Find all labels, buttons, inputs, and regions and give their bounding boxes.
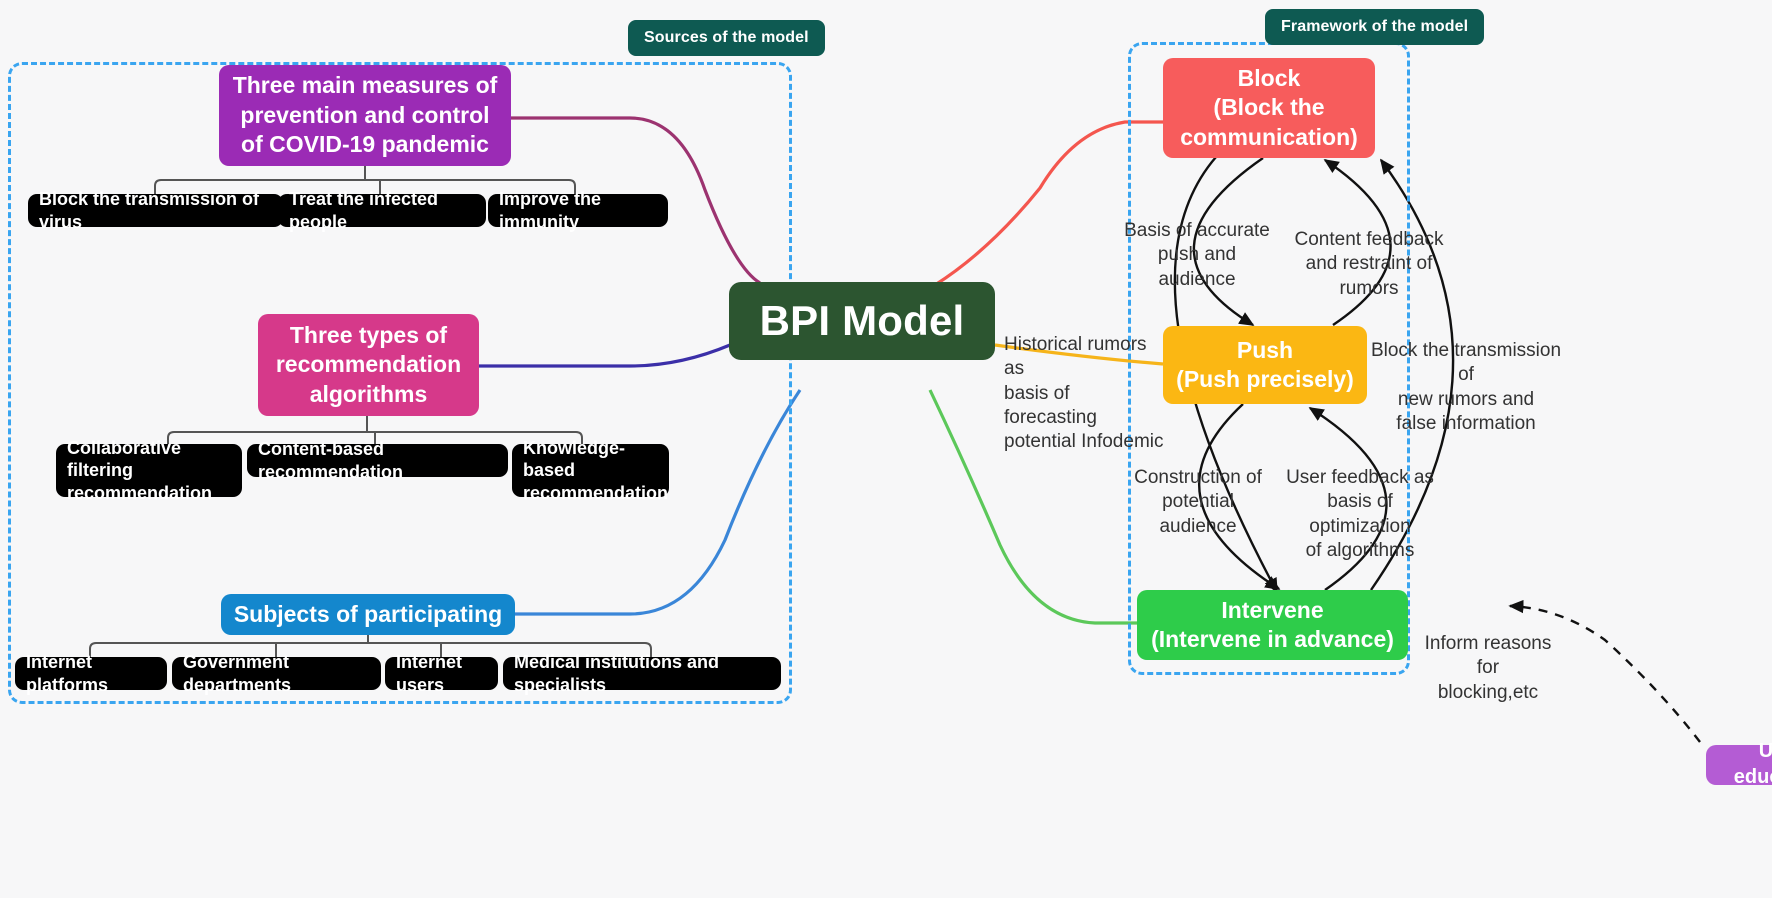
leaf-collaborative-filtering[interactable]: Collaborative filtering recommendation <box>56 444 242 497</box>
group-tag-framework: Framework of the model <box>1265 9 1484 45</box>
leaf-government-departments[interactable]: Government departments <box>172 657 381 690</box>
branch-node-algorithms[interactable]: Three types of recommendation algorithms <box>258 314 479 416</box>
leaf-knowledge-based[interactable]: Knowledge-based recommendation <box>512 444 669 497</box>
leaf-internet-platforms[interactable]: Internet platforms <box>15 657 167 690</box>
leaf-medical-institutions[interactable]: Medical institutions and specialists <box>503 657 781 690</box>
framework-node-intervene[interactable]: Intervene (Intervene in advance) <box>1137 590 1408 660</box>
framework-node-block[interactable]: Block (Block the communication) <box>1163 58 1375 158</box>
edge-label-construction-of-potential-audience: Construction of potential audience <box>1124 466 1272 539</box>
diagram-canvas: Sources of the model Three main measures… <box>0 0 1772 898</box>
edge-label-content-feedback: Content feedback and restraint of rumors <box>1280 228 1458 301</box>
leaf-content-based[interactable]: Content-based recommendation <box>247 444 508 477</box>
center-node-bpi-model[interactable]: BPI Model <box>729 282 995 360</box>
branch-node-measures[interactable]: Three main measures of prevention and co… <box>219 65 511 166</box>
leaf-improve-immunity[interactable]: Improve the immunity <box>488 194 668 227</box>
edge-label-block-transmission-new-rumors: Block the transmission of new rumors and… <box>1368 339 1564 436</box>
edge-label-historical-rumors: Historical rumors as basis of forecastin… <box>1004 333 1166 455</box>
edge-label-basis-of-accurate-push: Basis of accurate push and audience <box>1122 219 1272 292</box>
framework-node-push[interactable]: Push (Push precisely) <box>1163 326 1367 404</box>
external-node-user-education[interactable]: User education <box>1706 745 1772 785</box>
leaf-internet-users[interactable]: Internet users <box>385 657 498 690</box>
edge-label-inform-reasons-for-blocking: Inform reasons for blocking,etc <box>1412 632 1564 705</box>
leaf-treat-infected-people[interactable]: Treat the infected people <box>278 194 486 227</box>
edge-label-user-feedback: User feedback as basis of optimization o… <box>1280 466 1440 563</box>
leaf-block-transmission-of-virus[interactable]: Block the transmission of virus <box>28 194 283 227</box>
group-tag-sources: Sources of the model <box>628 20 825 56</box>
branch-node-subjects[interactable]: Subjects of participating <box>221 594 515 635</box>
